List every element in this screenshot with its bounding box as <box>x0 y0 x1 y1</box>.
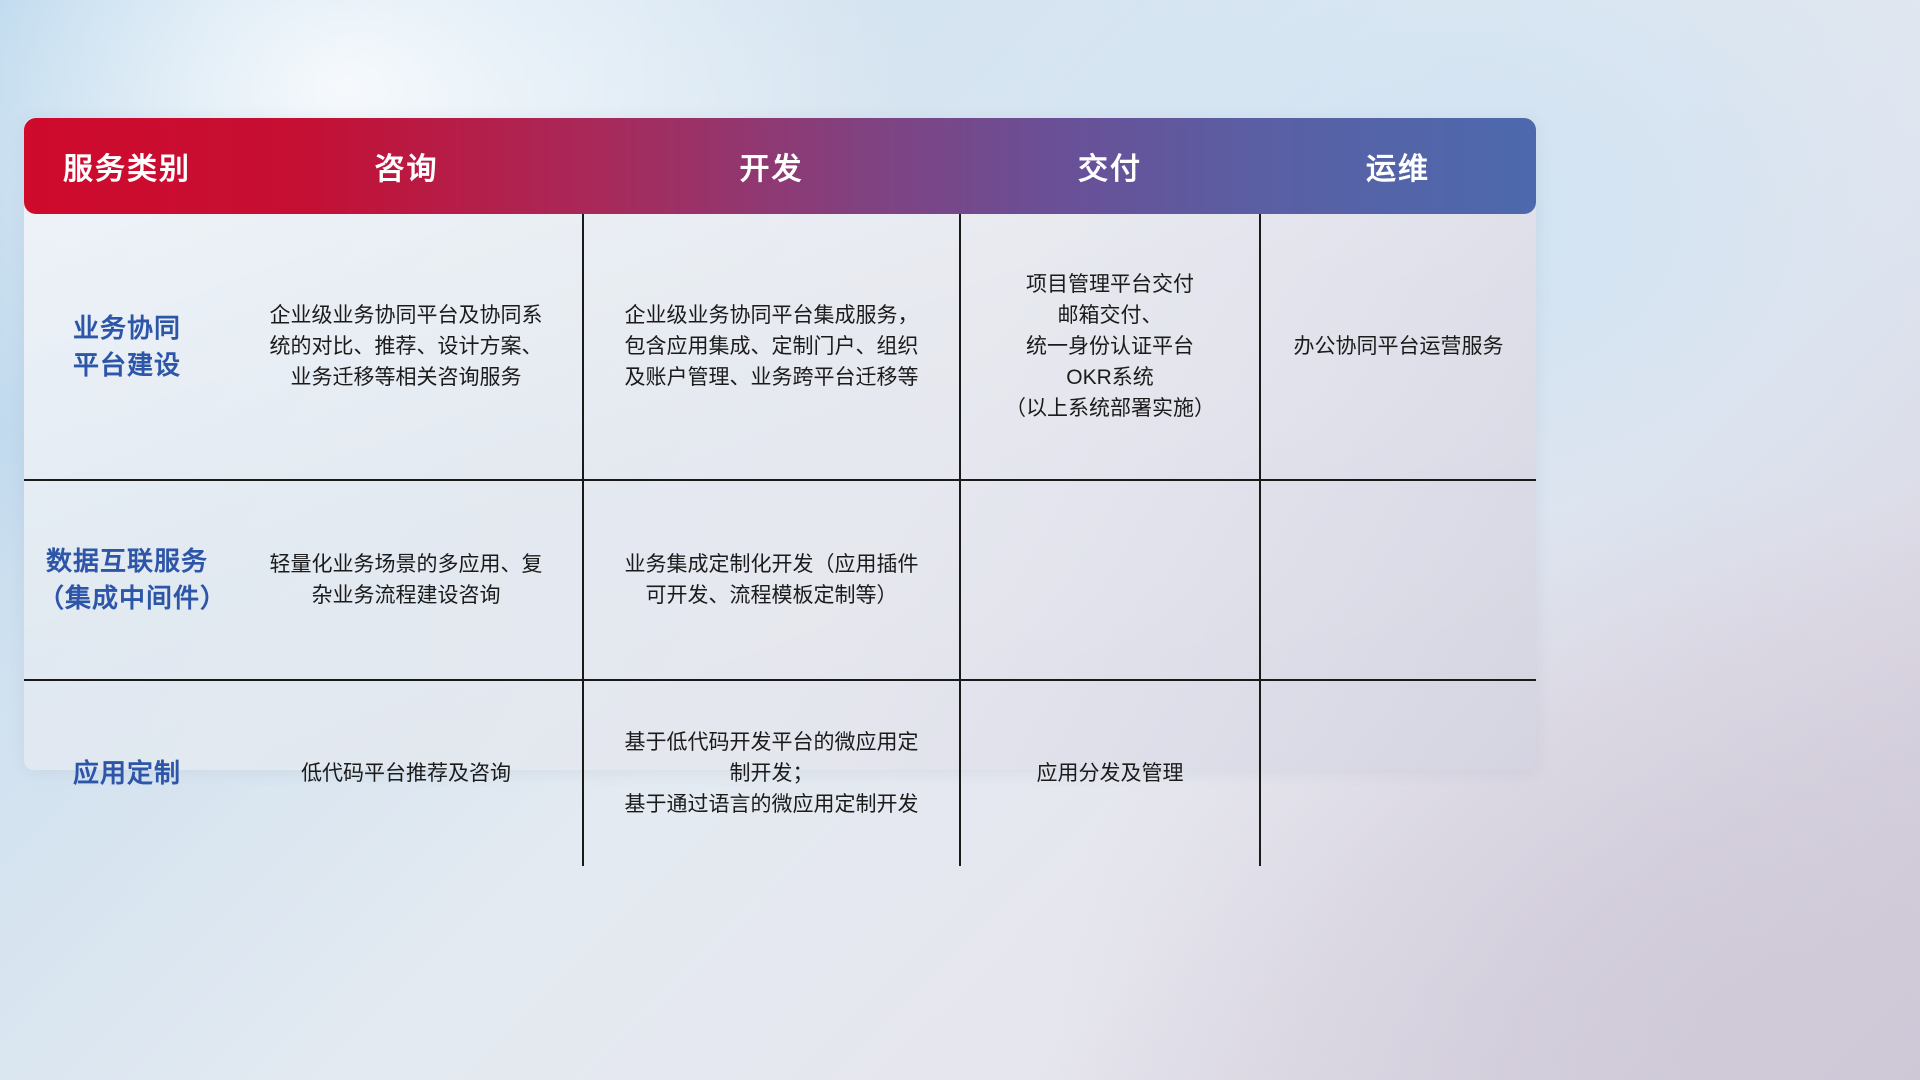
cell-line: （以上系统部署实施） <box>975 393 1245 424</box>
table-header: 服务类别 咨询 开发 交付 运维 <box>24 118 1536 214</box>
slide-page: 服务类别 咨询 开发 交付 运维 <box>0 0 1920 1080</box>
cell-consulting: 轻量化业务场景的多应用、复 杂业务流程建设咨询 <box>230 480 583 680</box>
cell-line: 基于通过语言的微应用定制开发 <box>598 789 945 820</box>
row-label-line: 平台建设 <box>38 347 216 384</box>
cell-line: 企业级业务协同平台集成服务， <box>598 300 945 331</box>
cell-consulting: 低代码平台推荐及咨询 <box>230 680 583 866</box>
row-label-lines: 应用定制 <box>38 755 216 792</box>
row-label-line: （集成中间件） <box>38 580 216 617</box>
header-label-operations: 运维 <box>1366 153 1430 186</box>
cell-development: 业务集成定制化开发（应用插件 可开发、流程模板定制等） <box>583 480 960 680</box>
cell-text: 轻量化业务场景的多应用、复 杂业务流程建设咨询 <box>244 549 568 611</box>
cell-text: 企业级业务协同平台集成服务， 包含应用集成、定制门户、组织 及账户管理、业务跨平… <box>598 300 945 393</box>
cell-line: 办公协同平台运营服务 <box>1275 331 1522 362</box>
cell-line: 杂业务流程建设咨询 <box>244 580 568 611</box>
row-label-line: 业务协同 <box>38 310 216 347</box>
row-label-lines: 数据互联服务 （集成中间件） <box>38 543 216 617</box>
header-label-delivery: 交付 <box>1078 153 1142 186</box>
row-label-cell: 应用定制 <box>24 680 230 866</box>
cell-line: 轻量化业务场景的多应用、复 <box>244 549 568 580</box>
cell-line: 业务迁移等相关咨询服务 <box>244 362 568 393</box>
cell-development: 企业级业务协同平台集成服务， 包含应用集成、定制门户、组织 及账户管理、业务跨平… <box>583 214 960 480</box>
row-label-cell: 业务协同 平台建设 <box>24 214 230 480</box>
cell-line: 统一身份认证平台 <box>975 331 1245 362</box>
cell-line: 业务集成定制化开发（应用插件 <box>598 549 945 580</box>
header-cell-consulting: 咨询 <box>230 118 583 214</box>
header-cell-delivery: 交付 <box>960 118 1260 214</box>
row-label-line: 应用定制 <box>38 755 216 792</box>
header-label-category: 服务类别 <box>63 153 191 186</box>
cell-line: 企业级业务协同平台及协同系 <box>244 300 568 331</box>
header-cell-operations: 运维 <box>1260 118 1536 214</box>
header-row: 服务类别 咨询 开发 交付 运维 <box>24 118 1536 214</box>
cell-text: 业务集成定制化开发（应用插件 可开发、流程模板定制等） <box>598 549 945 611</box>
service-table: 服务类别 咨询 开发 交付 运维 <box>24 118 1536 866</box>
cell-line: 包含应用集成、定制门户、组织 <box>598 331 945 362</box>
header-label-consulting: 咨询 <box>375 153 439 186</box>
cell-development: 基于低代码开发平台的微应用定 制开发； 基于通过语言的微应用定制开发 <box>583 680 960 866</box>
row-label-cell: 数据互联服务 （集成中间件） <box>24 480 230 680</box>
cell-line: 统的对比、推荐、设计方案、 <box>244 331 568 362</box>
cell-text: 项目管理平台交付 邮箱交付、 统一身份认证平台 OKR系统 （以上系统部署实施） <box>975 269 1245 424</box>
cell-operations: 办公协同平台运营服务 <box>1260 214 1536 480</box>
cell-line: 制开发； <box>598 758 945 789</box>
cell-line: 邮箱交付、 <box>975 300 1245 331</box>
cell-text: 基于低代码开发平台的微应用定 制开发； 基于通过语言的微应用定制开发 <box>598 727 945 820</box>
cell-line: 基于低代码开发平台的微应用定 <box>598 727 945 758</box>
cell-text: 应用分发及管理 <box>975 758 1245 789</box>
cell-operations-empty <box>1260 680 1536 866</box>
cell-line: 及账户管理、业务跨平台迁移等 <box>598 362 945 393</box>
service-matrix-table: 服务类别 咨询 开发 交付 运维 <box>24 118 1536 770</box>
cell-text: 企业级业务协同平台及协同系 统的对比、推荐、设计方案、 业务迁移等相关咨询服务 <box>244 300 568 393</box>
row-label-line: 数据互联服务 <box>38 543 216 580</box>
table-body: 业务协同 平台建设 企业级业务协同平台及协同系 统的对比、推荐、设计方案、 业务… <box>24 214 1536 866</box>
cell-line: OKR系统 <box>975 362 1245 393</box>
table-row: 数据互联服务 （集成中间件） 轻量化业务场景的多应用、复 杂业务流程建设咨询 业… <box>24 480 1536 680</box>
cell-line: 应用分发及管理 <box>975 758 1245 789</box>
table-row: 应用定制 低代码平台推荐及咨询 基于低代码开发平台的微应用定 制开发； 基于通过… <box>24 680 1536 866</box>
cell-consulting: 企业级业务协同平台及协同系 统的对比、推荐、设计方案、 业务迁移等相关咨询服务 <box>230 214 583 480</box>
cell-text: 低代码平台推荐及咨询 <box>244 758 568 789</box>
header-label-development: 开发 <box>740 153 804 186</box>
cell-delivery: 项目管理平台交付 邮箱交付、 统一身份认证平台 OKR系统 （以上系统部署实施） <box>960 214 1260 480</box>
cell-line: 低代码平台推荐及咨询 <box>244 758 568 789</box>
header-cell-category: 服务类别 <box>24 118 230 214</box>
cell-line: 项目管理平台交付 <box>975 269 1245 300</box>
cell-delivery-empty <box>960 480 1260 680</box>
table-row: 业务协同 平台建设 企业级业务协同平台及协同系 统的对比、推荐、设计方案、 业务… <box>24 214 1536 480</box>
cell-operations-empty <box>1260 480 1536 680</box>
row-label-lines: 业务协同 平台建设 <box>38 310 216 384</box>
cell-text: 办公协同平台运营服务 <box>1275 331 1522 362</box>
cell-delivery: 应用分发及管理 <box>960 680 1260 866</box>
cell-line: 可开发、流程模板定制等） <box>598 580 945 611</box>
header-cell-development: 开发 <box>583 118 960 214</box>
